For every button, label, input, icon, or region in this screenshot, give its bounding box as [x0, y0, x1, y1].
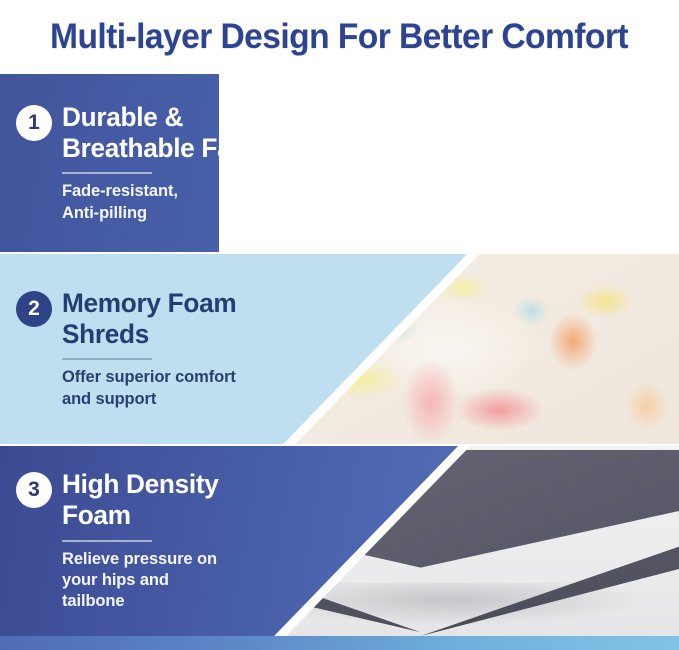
bottom-accent-strip	[0, 636, 679, 650]
panel-2-heading-row: 2 Memory Foam Shreds	[16, 288, 242, 350]
infographic-root: Multi-layer Design For Better Comfort 1 …	[0, 0, 679, 650]
panel-3-headline: High Density Foam	[62, 469, 219, 531]
panel-1-divider	[62, 172, 152, 174]
panel-1-heading-row: 1 Durable & Breathable Fabric	[16, 102, 285, 164]
panel-1-content: 1 Durable & Breathable Fabric Fade-resis…	[16, 74, 285, 252]
panel-1-headline: Durable & Breathable Fabric	[62, 102, 278, 164]
panel-2-headline: Memory Foam Shreds	[62, 288, 236, 350]
feature-panel-3: 3 High Density Foam Relieve pressure on …	[0, 446, 679, 636]
step-number-badge-1: 1	[16, 105, 52, 141]
feature-panel-1: 1 Durable & Breathable Fabric Fade-resis…	[0, 74, 679, 252]
page-title: Multi-layer Design For Better Comfort	[0, 0, 679, 74]
panel-3-content: 3 High Density Foam Relieve pressure on …	[16, 446, 223, 636]
panel-2-divider	[62, 358, 152, 360]
step-number-badge-3: 3	[16, 472, 52, 508]
page-title-text: Multi-layer Design For Better Comfort	[51, 17, 629, 57]
panel-3-heading-row: 3 High Density Foam	[16, 469, 223, 531]
panel-3-divider	[62, 540, 152, 542]
panel-3-subtitle: Relieve pressure on your hips and tailbo…	[62, 549, 223, 613]
panel-1-diagonal-separator	[219, 74, 679, 252]
panel-2-subtitle: Offer superior comfort and support	[62, 367, 242, 410]
panel-2-content: 2 Memory Foam Shreds Offer superior comf…	[16, 254, 242, 444]
step-number-badge-2: 2	[16, 291, 52, 327]
panel-1-subtitle: Fade-resistant, Anti-pilling	[62, 181, 285, 224]
feature-panel-2: 2 Memory Foam Shreds Offer superior comf…	[0, 254, 679, 444]
